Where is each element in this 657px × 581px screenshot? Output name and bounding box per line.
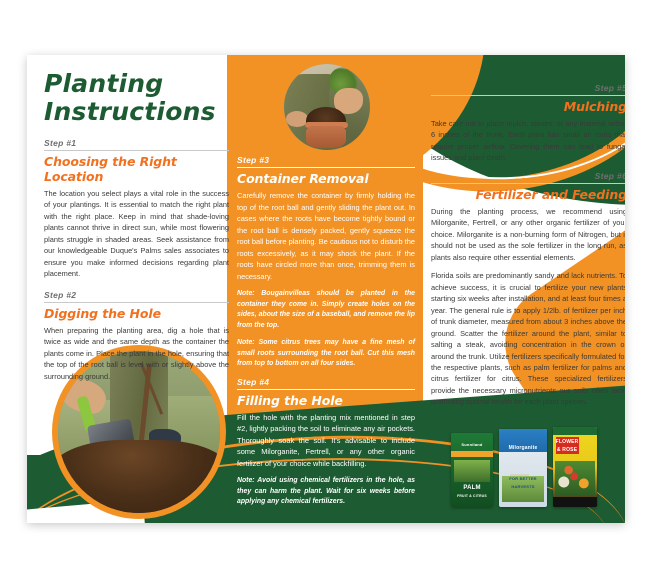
product-bag-sunniland-line1: PALM [451, 485, 493, 492]
product-bag-flower-rose-line1: FLOWER [556, 440, 579, 446]
product-bag-sunniland-brand: Sunniland [451, 443, 493, 447]
step-1-block: Step #1 Choosing the Right Location The … [44, 138, 229, 280]
product-bag-milorganite-line2: HARVESTS [499, 485, 547, 489]
step-3-label: Step #3 [237, 155, 415, 165]
step-4-heading: Filling the Hole [237, 393, 415, 408]
step-5-rule [431, 95, 625, 96]
product-bags-group: Sunniland PALM FRUIT & CITRUS Milorganit… [447, 423, 625, 507]
left-column: Planting Instructions Step #1 Choosing t… [44, 70, 229, 389]
screenshot-stage: Planting Instructions Step #1 Choosing t… [0, 0, 657, 581]
product-bag-flower-rose-line2: & ROSE [556, 448, 579, 454]
step-3-heading: Container Removal [237, 171, 415, 186]
step-6-rule [431, 183, 625, 184]
step-3-body: Carefully remove the container by firmly… [237, 190, 415, 282]
step-1-body: The location you select plays a vital ro… [44, 188, 229, 280]
step-3-block: Step #3 Container Removal Carefully remo… [237, 155, 415, 370]
step-6-label: Step #6 [431, 171, 625, 181]
step-6-block: Step #6 Fertilizer and Feeding During th… [431, 171, 625, 408]
page-title-line-1: Planting [44, 70, 229, 98]
step-4-label: Step #4 [237, 377, 415, 387]
product-bag-sunniland: Sunniland PALM FRUIT & CITRUS [451, 433, 493, 507]
step-2-body: When preparing the planting area, dig a … [44, 325, 229, 382]
step-5-label: Step #5 [431, 83, 625, 93]
step-3-note-1: Note: Bougainvilleas should be planted i… [237, 289, 415, 331]
page-title-line-2: Instructions [44, 98, 229, 126]
product-bag-sunniland-line2: FRUIT & CITRUS [451, 495, 493, 499]
step-6-body-2: Florida soils are predominantly sandy an… [431, 270, 625, 408]
step-4-block: Step #4 Filling the Hole Fill the hole w… [237, 377, 415, 508]
planting-instructions-page: Planting Instructions Step #1 Choosing t… [27, 55, 625, 523]
step-6-heading: Fertilizer and Feeding [431, 187, 625, 202]
product-bag-milorganite: Milorganite FOR BETTER HARVESTS [499, 429, 547, 507]
right-column: Step #5 Mulching Take care not to place … [431, 83, 625, 415]
step-4-rule [237, 389, 415, 390]
step-6-body-1: During the planting process, we recommen… [431, 206, 625, 263]
middle-column: Step #3 Container Removal Carefully remo… [237, 155, 415, 515]
product-bag-milorganite-line1: FOR BETTER [499, 477, 547, 481]
step-2-heading: Digging the Hole [44, 306, 229, 321]
step-1-rule [44, 150, 229, 151]
step-5-block: Step #5 Mulching Take care not to place … [431, 83, 625, 164]
step-3-rule [237, 167, 415, 168]
step-1-label: Step #1 [44, 138, 229, 148]
product-bag-milorganite-brand: Milorganite [499, 446, 547, 452]
step-2-block: Step #2 Digging the Hole When preparing … [44, 290, 229, 382]
step-3-note-2: Note: Some citrus trees may have a fine … [237, 338, 415, 369]
potting-plant-photo [279, 59, 375, 155]
step-4-note-1: Note: Avoid using chemical fertilizers i… [237, 476, 415, 507]
page-title: Planting Instructions [44, 70, 229, 126]
product-bag-flower-rose: FLOWER & ROSE [553, 427, 597, 507]
step-5-heading: Mulching [431, 99, 625, 114]
step-4-body: Fill the hole with the planting mix ment… [237, 412, 415, 469]
step-2-label: Step #2 [44, 290, 229, 300]
step-1-heading: Choosing the Right Location [44, 154, 229, 184]
step-5-body: Take care not to place mulch, stones, or… [431, 118, 625, 164]
step-2-rule [44, 302, 229, 303]
